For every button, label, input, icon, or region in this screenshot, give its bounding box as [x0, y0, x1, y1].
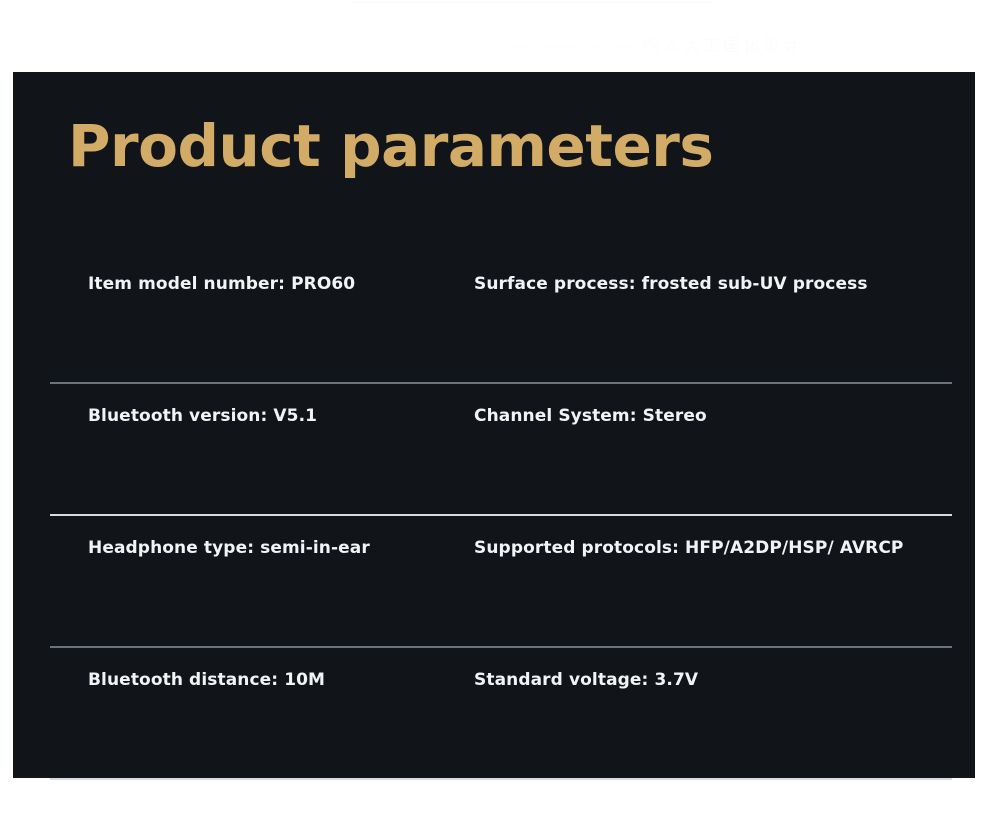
table-row: Bluetooth distance: 10M Standard voltage… — [13, 648, 975, 780]
spec-headphone-type: Headphone type: semi-in-ear — [88, 538, 370, 558]
table-row: Item model number: PRO60 Surface process… — [13, 252, 975, 384]
spec-bluetooth-version: Bluetooth version: V5.1 — [88, 406, 317, 426]
product-parameters-panel: Product parameters Item model number: PR… — [13, 72, 975, 778]
spec-supported-protocols: Supported protocols: HFP/A2DP/HSP/ AVRCP — [474, 538, 903, 558]
table-row: Bluetooth version: V5.1 Channel System: … — [13, 384, 975, 516]
table-row: Headphone type: semi-in-ear Supported pr… — [13, 516, 975, 648]
row-divider — [50, 778, 952, 780]
spec-bluetooth-distance: Bluetooth distance: 10M — [88, 670, 325, 690]
spec-surface-process: Surface process: frosted sub-UV process — [474, 274, 868, 294]
page-title: Product parameters — [68, 117, 713, 175]
spec-table: Item model number: PRO60 Surface process… — [13, 252, 975, 780]
spec-standard-voltage: Standard voltage: 3.7V — [474, 670, 698, 690]
ghost-text-line-top: —————————————————— — [352, 0, 712, 13]
ghost-text-band: —————————————————— — —— — — 购入大工国化设计 — [0, 0, 1000, 72]
ghost-text-line-second: — —— — — 购入大工国化设计 — [512, 31, 803, 56]
spec-item-model-number: Item model number: PRO60 — [88, 274, 355, 294]
spec-channel-system: Channel System: Stereo — [474, 406, 707, 426]
